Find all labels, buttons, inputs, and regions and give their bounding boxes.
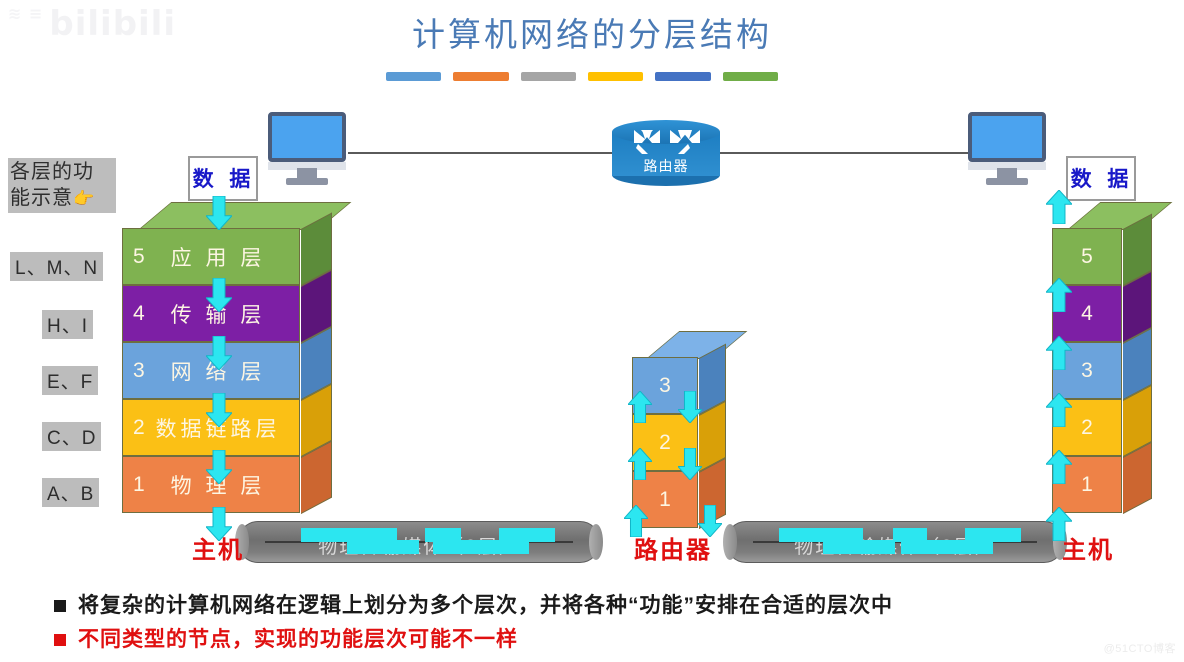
title-accent-bars	[386, 72, 778, 82]
computer-monitor-icon	[268, 112, 350, 186]
layer-mark-5: L、M、N	[10, 252, 103, 281]
arrow-up-icon	[628, 448, 652, 480]
arrow-up-icon	[1046, 450, 1072, 484]
monitor-screen	[268, 112, 346, 162]
arrow-down-icon	[678, 448, 702, 480]
title-accent-bar-5	[655, 72, 710, 81]
computer-monitor-icon	[968, 112, 1050, 186]
arrow-down-icon	[206, 278, 232, 312]
title-accent-bar-3	[521, 72, 576, 81]
bullet-square-icon	[54, 634, 66, 646]
router-arrows-glyph	[612, 126, 720, 160]
highlight-mark	[823, 540, 895, 554]
arrow-up-icon	[624, 505, 648, 537]
pointing-hand-icon: 👉	[73, 189, 95, 208]
title-accent-bar-1	[386, 72, 441, 81]
layer-name: 应 用 层	[123, 242, 299, 272]
arrow-up-icon	[1046, 190, 1072, 224]
layer-5: 5应 用 层	[122, 228, 300, 285]
arrow-down-icon	[206, 450, 232, 484]
title-accent-bar-6	[723, 72, 778, 81]
arrow-down-icon	[678, 391, 702, 423]
arrow-down-icon	[206, 196, 232, 230]
arrow-up-icon	[1046, 393, 1072, 427]
arrow-down-icon	[206, 393, 232, 427]
layer-mark-1: A、B	[42, 478, 99, 507]
arrow-up-icon	[1046, 507, 1072, 541]
transmission-media-left: 物理传输媒体（0层）	[238, 521, 600, 563]
layer-mark-4: H、I	[42, 310, 93, 339]
bullet-item: 将复杂的计算机网络在逻辑上划分为多个层次，并将各种“功能”安排在合适的层次中	[54, 592, 1164, 620]
stack-top-face	[1067, 202, 1172, 230]
monitor-foot	[986, 178, 1028, 185]
router-layer-stack: 321	[632, 357, 698, 528]
arrow-down-icon	[206, 336, 232, 370]
arrow-up-icon	[1046, 336, 1072, 370]
page-title: 计算机网络的分层结构	[0, 8, 1184, 56]
data-label-right: 数 据	[1066, 156, 1136, 201]
annotation-heading: 各层的功 能示意👉	[8, 158, 116, 213]
layer-number: 5	[1053, 245, 1121, 269]
highlight-mark	[901, 540, 993, 554]
router-icon-label: 路由器	[612, 156, 720, 176]
link-line-left	[348, 152, 613, 154]
bullet-square-icon	[54, 600, 66, 612]
arrow-up-icon	[1046, 278, 1072, 312]
slide-canvas: ≋ ≡bilibili @51CTO博客 计算机网络的分层结构 各层的功 能示意…	[0, 0, 1184, 662]
highlight-mark	[347, 540, 419, 554]
monitor-screen	[968, 112, 1046, 162]
link-line-right	[718, 152, 968, 154]
annotation-heading-line1: 各层的功	[10, 161, 94, 183]
layer-mark-2: C、D	[42, 422, 101, 451]
bullet-text: 将复杂的计算机网络在逻辑上划分为多个层次，并将各种“功能”安排在合适的层次中	[78, 592, 893, 620]
monitor-foot	[286, 178, 328, 185]
router-icon: 路由器	[612, 120, 720, 186]
layer-mark-3: E、F	[42, 366, 98, 395]
bullet-item: 不同类型的节点，实现的功能层次可能不一样	[54, 626, 1164, 654]
highlight-mark	[433, 540, 529, 554]
bullet-list: 将复杂的计算机网络在逻辑上划分为多个层次，并将各种“功能”安排在合适的层次中 不…	[54, 592, 1164, 660]
highlight-mark	[965, 528, 1021, 542]
arrow-down-icon	[206, 507, 232, 541]
layer-5: 5	[1052, 228, 1122, 285]
transmission-media-right: 物理传输媒体（0层）	[726, 521, 1064, 563]
data-label-left: 数 据	[188, 156, 258, 201]
bullet-text: 不同类型的节点，实现的功能层次可能不一样	[78, 626, 518, 654]
arrow-up-icon	[628, 391, 652, 423]
stack-top-face	[646, 331, 747, 359]
arrow-down-icon	[698, 505, 722, 537]
title-accent-bar-2	[453, 72, 508, 81]
annotation-heading-line2: 能示意	[10, 187, 73, 209]
title-accent-bar-4	[588, 72, 643, 81]
highlight-mark	[499, 528, 555, 542]
